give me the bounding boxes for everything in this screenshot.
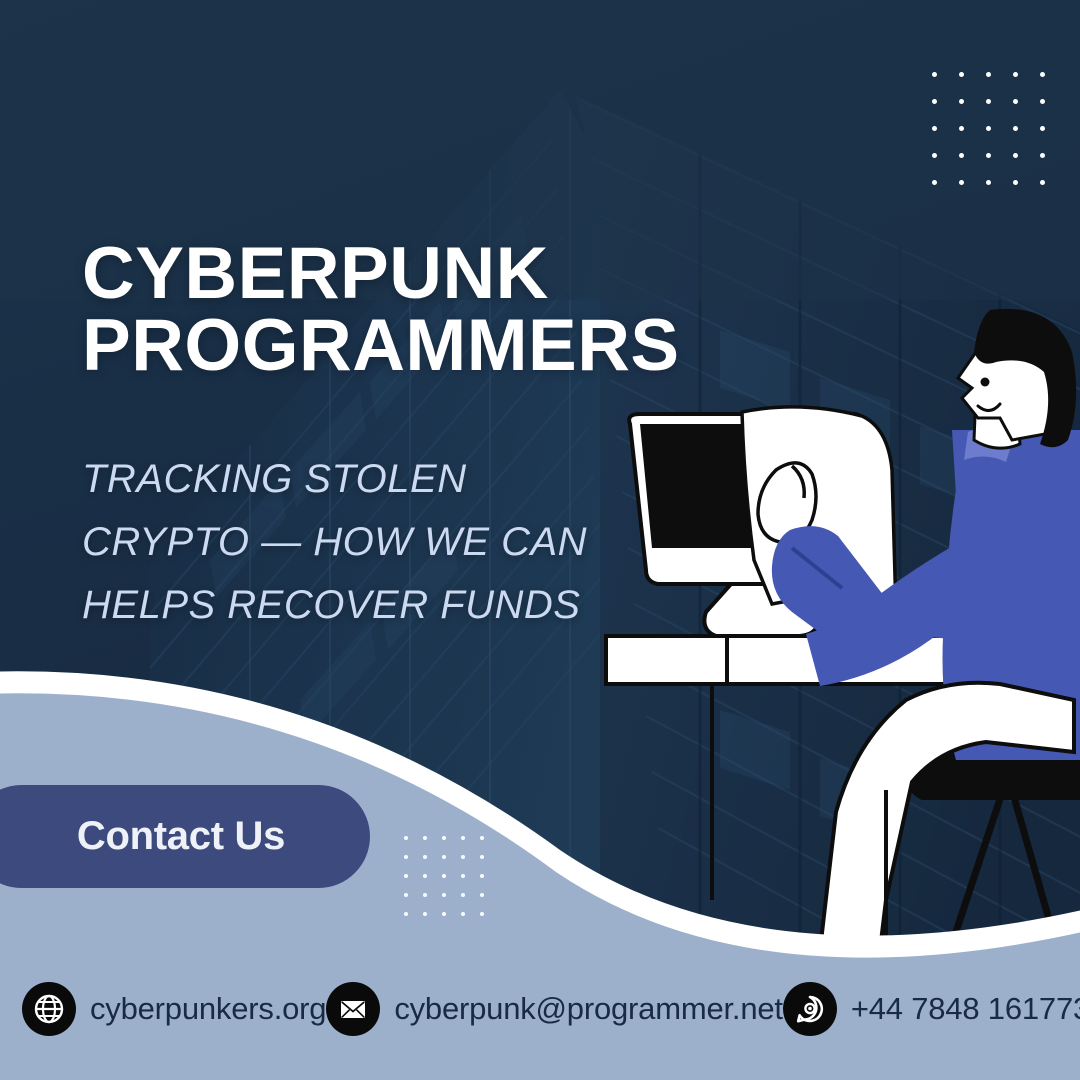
decor-dot	[442, 893, 446, 897]
contact-item-email[interactable]: cyberpunk@programmer.net	[326, 982, 783, 1036]
decor-dot	[404, 874, 408, 878]
decor-dot	[423, 855, 427, 859]
email-label: cyberpunk@programmer.net	[394, 991, 783, 1027]
decor-dot	[480, 874, 484, 878]
poster-canvas: CYBERPUNK PROGRAMMERS TRACKING STOLEN CR…	[0, 0, 1080, 1080]
decor-dot	[404, 836, 408, 840]
contact-item-website[interactable]: cyberpunkers.org	[22, 982, 326, 1036]
contact-item-phone[interactable]: +44 7848 161773	[783, 982, 1080, 1036]
decor-dot	[404, 912, 408, 916]
decor-dot	[442, 912, 446, 916]
decor-dot	[480, 855, 484, 859]
decor-dot	[423, 874, 427, 878]
decor-dot	[480, 893, 484, 897]
envelope-icon	[326, 982, 380, 1036]
decor-dot	[461, 855, 465, 859]
phone-label: +44 7848 161773	[851, 991, 1080, 1027]
eye	[981, 378, 990, 387]
legs-trousers	[820, 683, 1074, 950]
globe-icon	[22, 982, 76, 1036]
decor-dot	[423, 893, 427, 897]
decor-dot	[404, 893, 408, 897]
footer-contact-bar: cyberpunkers.org cyberpunk@programmer.ne…	[0, 938, 1080, 1080]
dot-grid-bottom-left	[404, 836, 484, 914]
decor-dot	[461, 912, 465, 916]
decor-dot	[461, 893, 465, 897]
decor-dot	[461, 836, 465, 840]
website-label: cyberpunkers.org	[90, 991, 326, 1027]
decor-dot	[423, 836, 427, 840]
decor-dot	[423, 912, 427, 916]
contact-us-button[interactable]: Contact Us	[0, 785, 370, 888]
decor-dot	[442, 874, 446, 878]
decor-dot	[461, 874, 465, 878]
contact-us-button-label: Contact Us	[77, 814, 285, 859]
decor-dot	[442, 836, 446, 840]
chat-bubble-icon	[783, 982, 837, 1036]
illustration-man-at-desk	[0, 0, 1080, 1080]
decor-dot	[480, 836, 484, 840]
decor-dot	[480, 912, 484, 916]
decor-dot	[442, 855, 446, 859]
decor-dot	[404, 855, 408, 859]
